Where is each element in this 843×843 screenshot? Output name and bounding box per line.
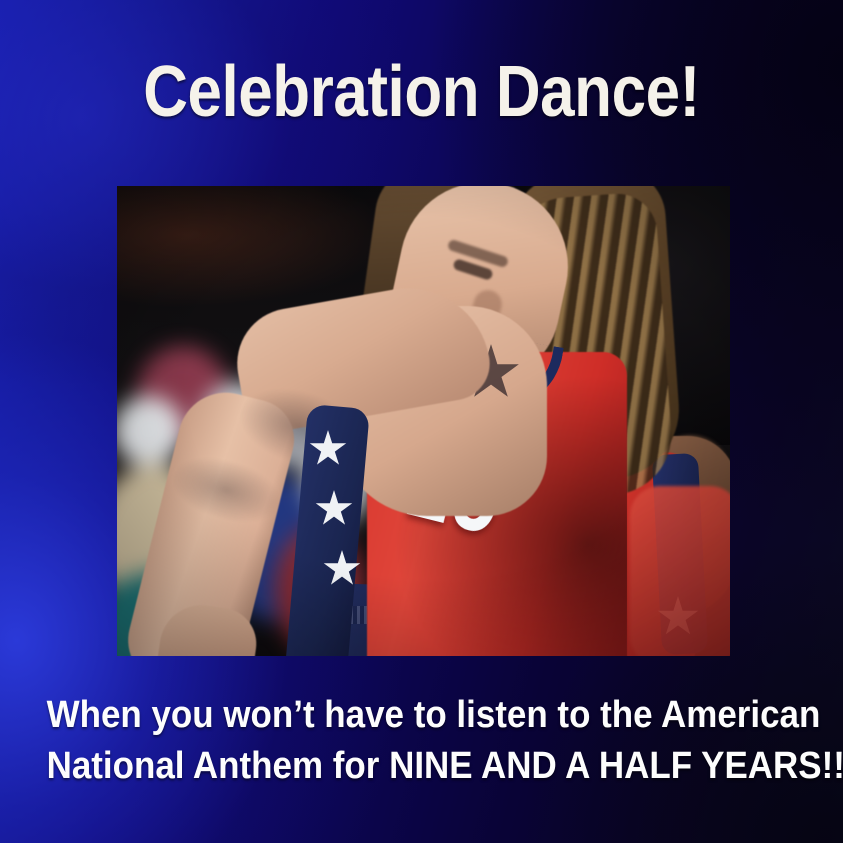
page-title: Celebration Dance! [59, 49, 784, 135]
photo-frame: LOYD 4 USA 15 [117, 186, 730, 656]
arena-warm-light [117, 186, 393, 308]
meme-image: Celebration Dance! LOYD [0, 0, 843, 843]
caption-line-1: When you won’t have to listen to the Ame… [47, 690, 797, 741]
background-person-red [630, 486, 730, 656]
caption-line-2: National Anthem for NINE AND A HALF YEAR… [47, 741, 797, 792]
caption: When you won’t have to listen to the Ame… [47, 690, 797, 792]
